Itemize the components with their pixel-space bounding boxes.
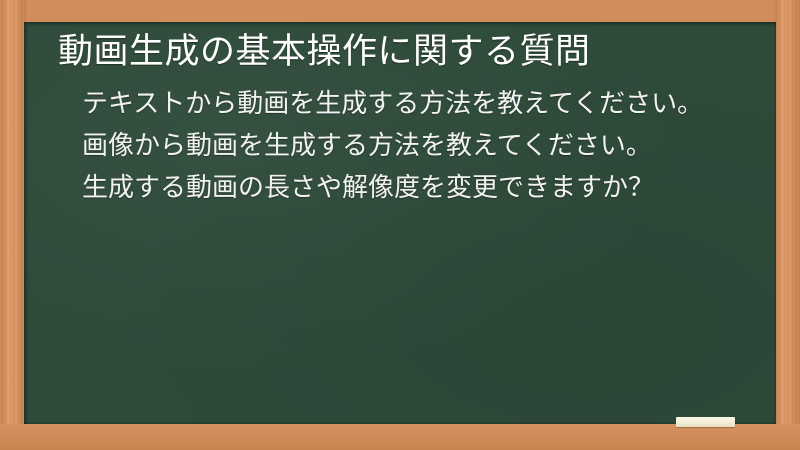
list-item: 画像から動画を生成する方法を教えてください。 [82,128,746,162]
chalk-piece-icon [676,417,735,427]
question-list: テキストから動画を生成する方法を教えてください。 画像から動画を生成する方法を教… [54,86,746,205]
frame-right-rail [774,0,800,450]
chalk-ledge [0,424,800,450]
page-title: 動画生成の基本操作に関する質問 [58,30,746,74]
slide-content: 動画生成の基本操作に関する質問 テキストから動画を生成する方法を教えてください。… [24,22,776,424]
frame-left-rail [0,0,26,450]
list-item: テキストから動画を生成する方法を教えてください。 [82,86,746,120]
frame-top-rail [0,0,800,22]
slide-canvas: 動画生成の基本操作に関する質問 テキストから動画を生成する方法を教えてください。… [0,0,800,450]
chalkboard-surface: 動画生成の基本操作に関する質問 テキストから動画を生成する方法を教えてください。… [24,22,776,424]
list-item: 生成する動画の長さや解像度を変更できますか？ [82,170,746,204]
